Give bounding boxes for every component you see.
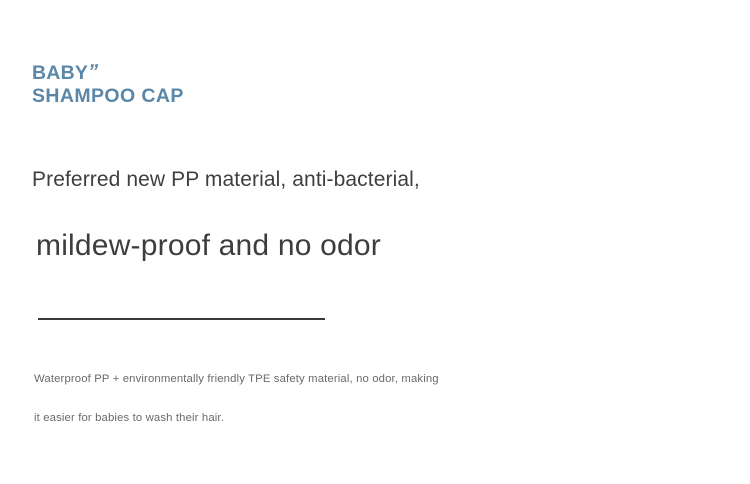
brand-name-text: BABY [32, 62, 88, 84]
body-copy-line-1: Waterproof PP + environmentally friendly… [34, 360, 654, 399]
body-copy-line-2: it easier for babies to wash their hair. [34, 399, 654, 438]
divider-rule [38, 318, 325, 320]
brand-name-line-2: SHAMPOO CAP [32, 85, 184, 107]
product-banner: BABY” SHAMPOO CAP Preferred new PP mater… [0, 0, 750, 484]
brand-logo: BABY” SHAMPOO CAP [32, 62, 184, 107]
headline-primary: Preferred new PP material, anti-bacteria… [32, 168, 420, 192]
headline-secondary: mildew-proof and no odor [36, 229, 381, 263]
body-copy: Waterproof PP + environmentally friendly… [34, 360, 654, 438]
brand-name-line-1: BABY” [32, 62, 98, 85]
